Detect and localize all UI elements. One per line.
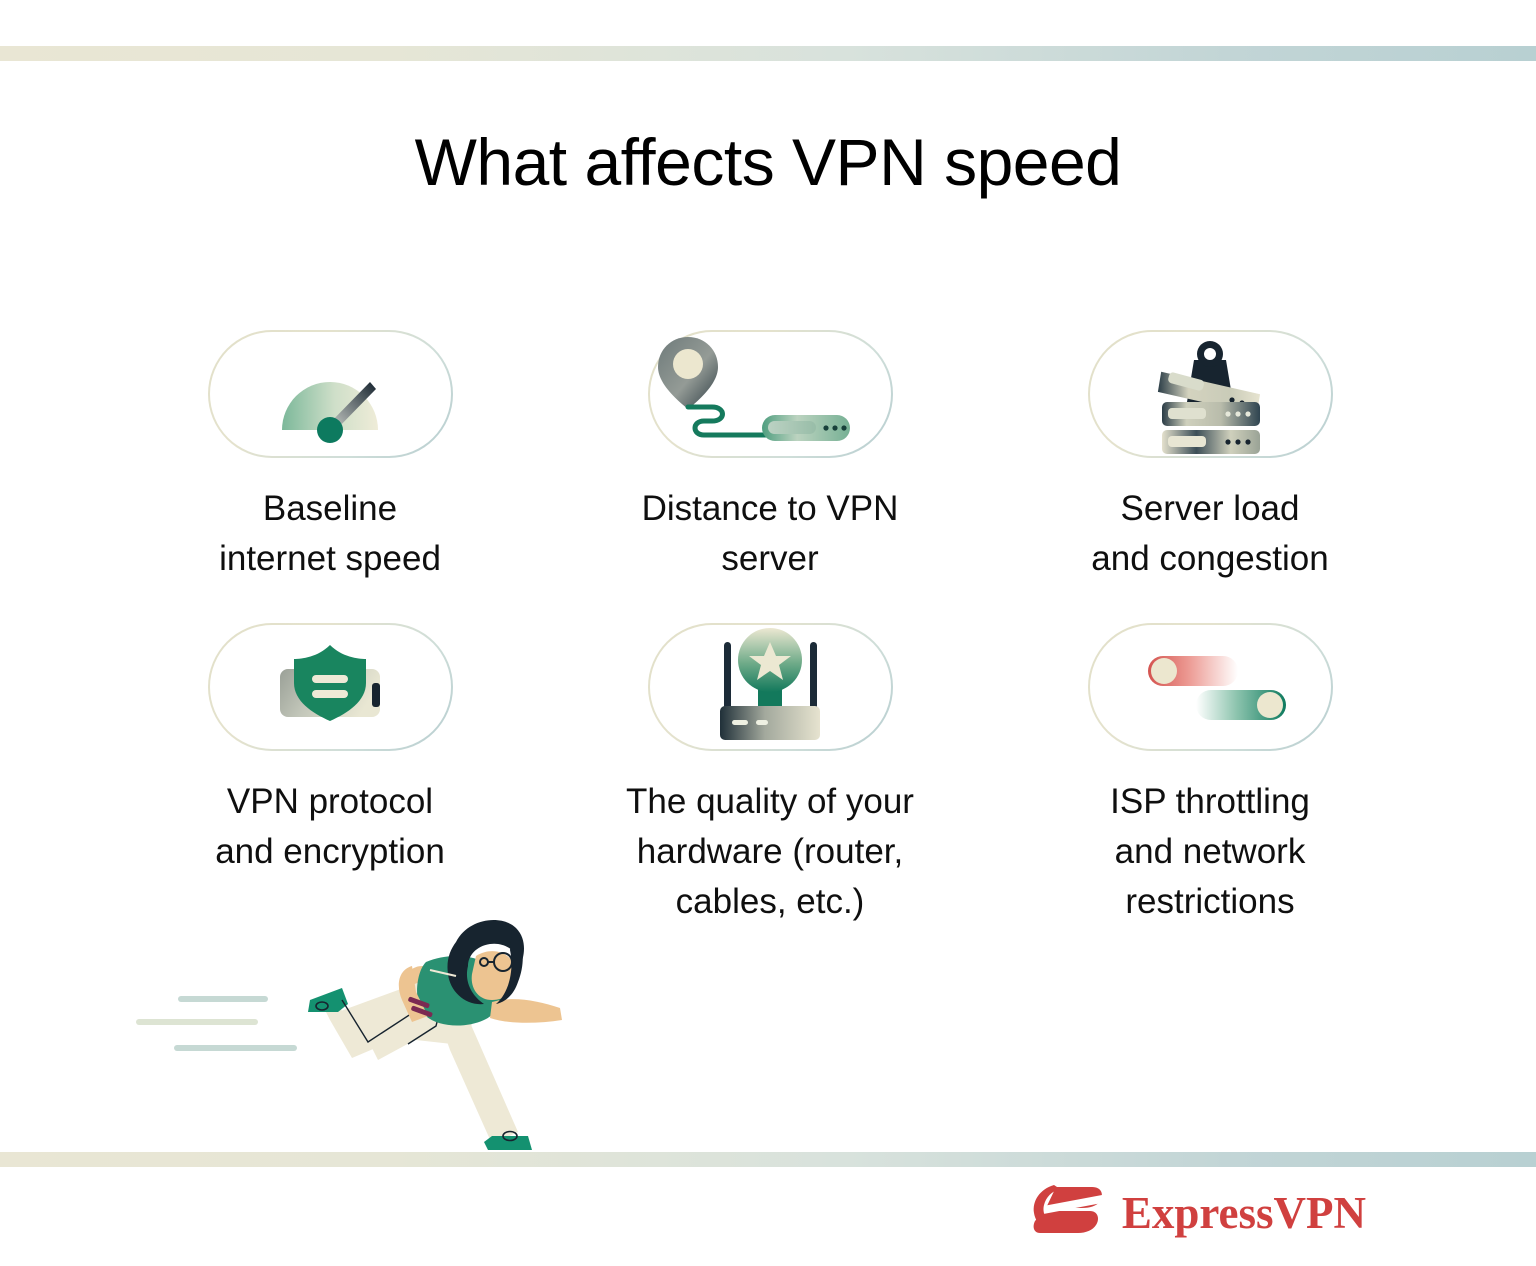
speed-lines bbox=[136, 996, 297, 1051]
page-title: What affects VPN speed bbox=[0, 126, 1536, 199]
caption-line-1: The quality of your bbox=[626, 777, 914, 827]
infographic-page: What affects VPN speed bbox=[0, 0, 1536, 1266]
factor-caption: The quality of your hardware (router, ca… bbox=[626, 777, 914, 926]
factor-card-baseline-internet-speed: Baseline internet speed bbox=[110, 330, 550, 583]
shielded-device-icon bbox=[230, 627, 430, 747]
caption-line-2: internet speed bbox=[219, 534, 441, 584]
factor-caption: Distance to VPN server bbox=[642, 484, 899, 583]
factor-card-server-load-and-congestion: Server load and congestion bbox=[990, 330, 1430, 583]
caption-line-1: Baseline bbox=[219, 484, 441, 534]
icon-pill bbox=[1088, 330, 1333, 458]
factor-caption: Baseline internet speed bbox=[219, 484, 441, 583]
caption-line-2: server bbox=[642, 534, 899, 584]
caption-line-2: hardware (router, bbox=[626, 827, 914, 877]
bottom-gradient-rule bbox=[0, 1152, 1536, 1167]
caption-line-2: and congestion bbox=[1091, 534, 1328, 584]
factor-caption: Server load and congestion bbox=[1091, 484, 1328, 583]
top-gradient-rule bbox=[0, 46, 1536, 61]
caption-line-1: Server load bbox=[1091, 484, 1328, 534]
toggle-switches-icon bbox=[1110, 632, 1310, 742]
caption-line-2: and network bbox=[1110, 827, 1310, 877]
expressvpn-e-logo-icon bbox=[1032, 1183, 1106, 1243]
caption-line-3: cables, etc.) bbox=[626, 877, 914, 927]
icon-pill bbox=[648, 623, 893, 751]
factor-caption: VPN protocol and encryption bbox=[215, 777, 445, 876]
factor-card-vpn-protocol-and-encryption: VPN protocol and encryption bbox=[110, 623, 550, 926]
icon-pill bbox=[208, 330, 453, 458]
factor-card-isp-throttling: ISP throttling and network restrictions bbox=[990, 623, 1430, 926]
expressvpn-logo[interactable]: ExpressVPN bbox=[1032, 1183, 1366, 1243]
factor-card-distance-to-vpn-server: Distance to VPN server bbox=[550, 330, 990, 583]
caption-line-1: ISP throttling bbox=[1110, 777, 1310, 827]
caption-line-1: Distance to VPN bbox=[642, 484, 899, 534]
map-pin-route-icon bbox=[650, 329, 890, 459]
weighted-servers-icon bbox=[1110, 324, 1310, 464]
icon-pill bbox=[1088, 623, 1333, 751]
factors-grid: Baseline internet speed bbox=[110, 330, 1430, 926]
running-woman-illustration bbox=[120, 900, 590, 1165]
icon-pill bbox=[648, 330, 893, 458]
icon-pill bbox=[208, 623, 453, 751]
caption-line-2: and encryption bbox=[215, 827, 445, 877]
router-award-icon bbox=[670, 612, 870, 762]
caption-line-3: restrictions bbox=[1110, 877, 1310, 927]
caption-line-1: VPN protocol bbox=[215, 777, 445, 827]
speedometer-icon bbox=[230, 342, 430, 446]
brand-name: ExpressVPN bbox=[1122, 1191, 1366, 1236]
factor-caption: ISP throttling and network restrictions bbox=[1110, 777, 1310, 926]
factor-card-quality-of-hardware: The quality of your hardware (router, ca… bbox=[550, 623, 990, 926]
